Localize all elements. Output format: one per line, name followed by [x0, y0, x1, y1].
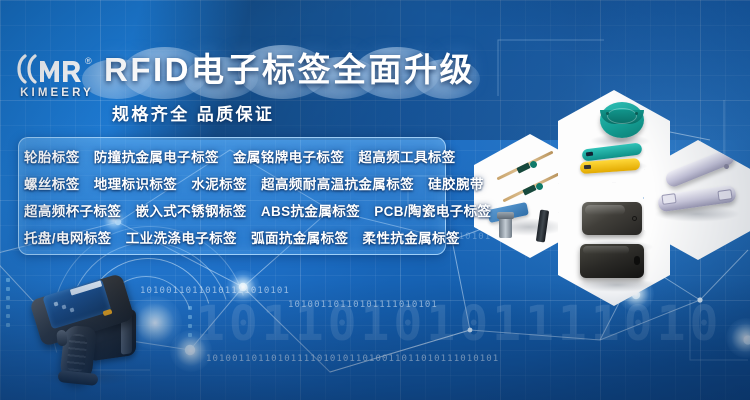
background-bottom-glow — [0, 280, 750, 400]
rfid-banner: 1011010101111010 10100110110101111010101… — [0, 0, 750, 400]
